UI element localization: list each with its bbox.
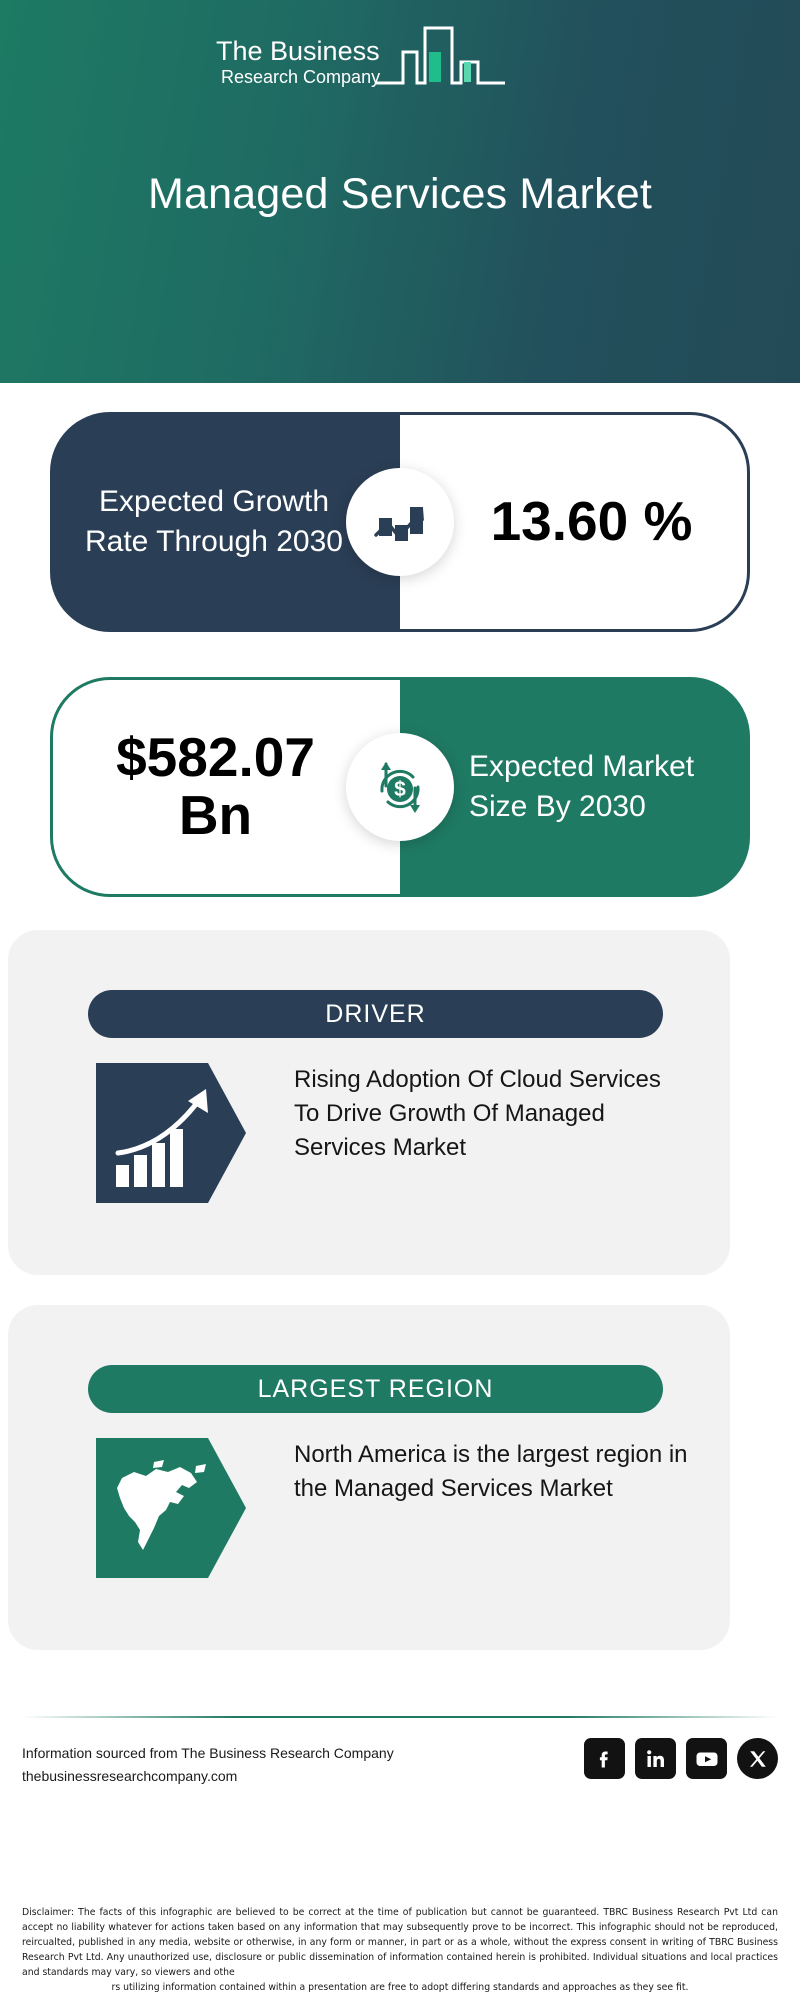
bar-chart-growth-pentagon-icon: [96, 1063, 246, 1203]
stat-card-growth-rate: Expected Growth Rate Through 2030 13.60 …: [50, 412, 750, 632]
stat-marketsize-value: $582.07 Bn: [86, 729, 368, 845]
stat-card-market-size: $582.07 Bn Expected Market Size By 2030 …: [50, 677, 750, 897]
linkedin-icon[interactable]: [635, 1738, 676, 1779]
svg-text:$: $: [394, 778, 406, 801]
driver-text: Rising Adoption Of Cloud Services To Dri…: [294, 1063, 690, 1203]
north-america-map-pentagon-icon: [96, 1438, 246, 1578]
region-heading: LARGEST REGION: [258, 1375, 494, 1404]
driver-heading-pill: DRIVER: [88, 990, 663, 1038]
dollar-circular-arrows-icon: $: [346, 733, 454, 841]
driver-heading: DRIVER: [325, 1000, 425, 1029]
source-line-1: Information sourced from The Business Re…: [22, 1742, 394, 1765]
stat-marketsize-label: Expected Market Size By 2030: [431, 747, 719, 826]
facebook-icon[interactable]: [584, 1738, 625, 1779]
stat-growth-value: 13.60 %: [431, 493, 717, 551]
driver-body: Rising Adoption Of Cloud Services To Dri…: [96, 1063, 690, 1203]
region-text: North America is the largest region in t…: [294, 1438, 690, 1578]
largest-region-panel: LARGEST REGION North America is the larg…: [8, 1305, 730, 1650]
growth-chart-arrow-icon: [346, 468, 454, 576]
region-heading-pill: LARGEST REGION: [88, 1365, 663, 1413]
social-links: [584, 1738, 778, 1779]
driver-panel: DRIVER Rising Adoption Of Cloud Services…: [8, 930, 730, 1275]
tbrc-logo: The Business Research Company: [216, 26, 506, 101]
header-banner: The Business Research Company Managed Se…: [0, 0, 800, 383]
svg-text:Research Company: Research Company: [221, 67, 380, 87]
disclaimer-last-line: rs utilizing information contained withi…: [22, 1980, 778, 1995]
source-attribution: Information sourced from The Business Re…: [22, 1742, 394, 1788]
page-title: Managed Services Market: [0, 170, 800, 219]
source-line-2[interactable]: thebusinessresearchcompany.com: [22, 1765, 394, 1788]
stat-growth-label: Expected Growth Rate Through 2030: [79, 482, 371, 561]
footer-divider: [22, 1716, 778, 1718]
disclaimer-main: Disclaimer: The facts of this infographi…: [22, 1907, 778, 1978]
region-body: North America is the largest region in t…: [96, 1438, 690, 1578]
disclaimer-text: Disclaimer: The facts of this infographi…: [22, 1905, 778, 1995]
x-twitter-icon[interactable]: [737, 1738, 778, 1779]
youtube-icon[interactable]: [686, 1738, 727, 1779]
svg-text:The Business: The Business: [216, 36, 380, 66]
